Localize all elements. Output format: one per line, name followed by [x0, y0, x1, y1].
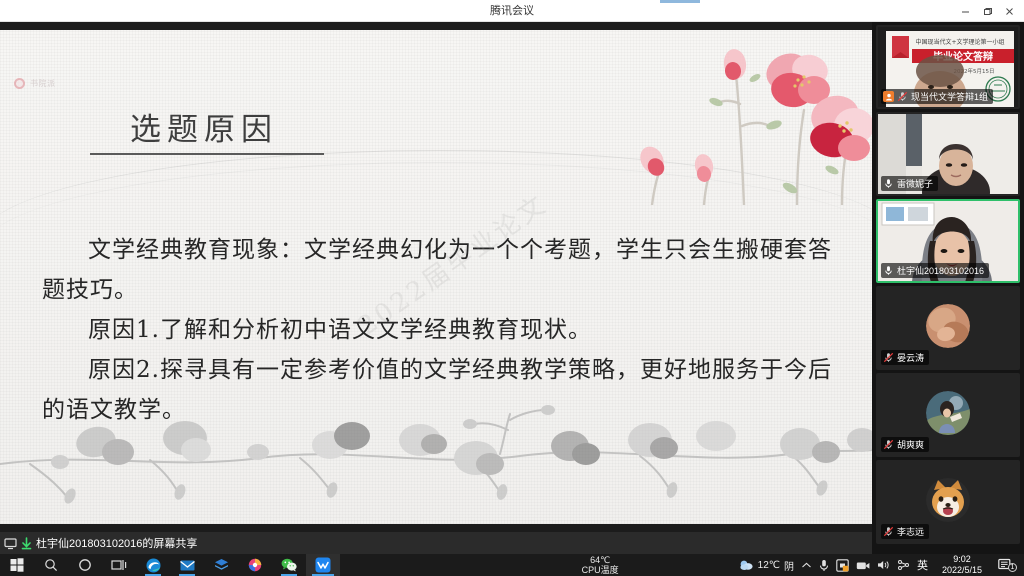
- slide-watermark-label: 书院派: [30, 78, 56, 89]
- cpu-temp-value: 64℃: [582, 555, 619, 565]
- screen-share-status-bar: 杜宇仙201803102016的屏幕共享: [0, 532, 872, 554]
- slide-watermark-badge: 书院派: [14, 78, 56, 89]
- chevron-up-icon[interactable]: [801, 561, 812, 570]
- shared-screen-stage[interactable]: 书院派: [0, 22, 872, 532]
- minimize-icon[interactable]: [954, 0, 976, 22]
- search-icon[interactable]: [34, 554, 68, 576]
- slide-paragraph-2: 原因1.了解和分析初中语文文学经典教育现状。: [42, 310, 842, 350]
- seal-icon: [14, 78, 25, 89]
- avatar: [926, 304, 970, 348]
- edge-icon[interactable]: [136, 554, 170, 576]
- participant-name: 雷微妮子: [897, 177, 933, 190]
- participant-name-chip: 现当代文学答辩1组: [881, 89, 993, 104]
- books-icon[interactable]: [204, 554, 238, 576]
- system-tray: 12℃ 阴: [739, 554, 1024, 576]
- participant-name-chip: 李志远: [881, 524, 929, 539]
- clock-time: 9:02: [935, 554, 989, 565]
- capture-icon[interactable]: [836, 559, 849, 572]
- wechat-icon[interactable]: [272, 554, 306, 576]
- ime-indicator[interactable]: 英: [917, 557, 928, 573]
- host-badge-icon: [883, 91, 894, 102]
- screen-share-label: 杜宇仙201803102016的屏幕共享: [36, 535, 197, 551]
- meeting-body: 书院派: [0, 22, 1024, 554]
- weather-condition: 阴: [784, 558, 794, 573]
- participant-tile-2[interactable]: 雷微妮子: [876, 112, 1020, 196]
- clock[interactable]: 9:02 2022/5/15: [935, 554, 989, 576]
- cpu-temp-label: CPU温度: [582, 565, 619, 575]
- window-title-bar: 腾讯会议: [0, 0, 1024, 22]
- participant-tile-4[interactable]: 晏云涛: [876, 286, 1020, 370]
- cloud-icon: [739, 559, 754, 571]
- participant-name: 晏云涛: [897, 351, 924, 364]
- slide-title-underline: [90, 153, 324, 155]
- microphone-muted-icon: [897, 91, 908, 102]
- participant-name: 李志远: [897, 525, 924, 538]
- camera-icon[interactable]: [856, 560, 870, 571]
- presentation-slide: 书院派: [0, 30, 872, 524]
- paint-icon[interactable]: [238, 554, 272, 576]
- participant-name-chip: 杜宇仙201803102016: [881, 263, 989, 278]
- floral-border-decoration: [0, 400, 872, 510]
- download-arrow-icon: [21, 537, 32, 550]
- notification-icon[interactable]: 1: [996, 558, 1018, 572]
- avatar: [926, 478, 970, 522]
- participant-tile-active-speaker[interactable]: 杜宇仙201803102016: [876, 199, 1020, 283]
- windows-taskbar: 64℃ CPU温度 12℃ 阴: [0, 554, 1024, 576]
- microphone-muted-icon: [883, 352, 894, 363]
- clock-date: 2022/5/15: [935, 565, 989, 576]
- microphone-muted-icon: [883, 526, 894, 537]
- participant-name-chip: 胡爽爽: [881, 437, 929, 452]
- weather-temp: 12℃: [758, 560, 780, 571]
- participant-rail[interactable]: 中国现当代文+文学理论第一小组 毕业论文答辩 2022年5月15日: [872, 22, 1024, 554]
- window-controls: [954, 0, 1020, 22]
- notification-count: 1: [1008, 563, 1017, 572]
- bluetooth-icon[interactable]: [897, 559, 910, 571]
- cpu-temperature-widget[interactable]: 64℃ CPU温度: [582, 555, 619, 575]
- svg-text:中国现当代文+文学理论第一小组: 中国现当代文+文学理论第一小组: [915, 38, 1004, 46]
- microphone-icon: [883, 178, 894, 189]
- close-icon[interactable]: [998, 0, 1020, 22]
- slide-paragraph-1: 文学经典教育现象：文学经典幻化为一个个考题，学生只会生搬硬套答题技巧。: [42, 230, 842, 310]
- monitor-icon: [4, 537, 17, 550]
- participant-name: 杜宇仙201803102016: [897, 264, 984, 277]
- mail-icon[interactable]: [170, 554, 204, 576]
- slide-title: 选题原因: [130, 104, 278, 149]
- speaker-icon[interactable]: [877, 559, 890, 571]
- taskbar-apps: [0, 554, 340, 576]
- participant-name-chip: 晏云涛: [881, 350, 929, 365]
- participant-name-chip: 雷微妮子: [881, 176, 938, 191]
- window-title: 腾讯会议: [0, 0, 1024, 22]
- start-button[interactable]: [0, 554, 34, 576]
- participant-name: 现当代文学答辩1组: [911, 90, 988, 103]
- tencent-meeting-icon[interactable]: [306, 554, 340, 576]
- task-view-icon[interactable]: [102, 554, 136, 576]
- participant-tile-host[interactable]: 中国现当代文+文学理论第一小组 毕业论文答辩 2022年5月15日: [876, 25, 1020, 109]
- participant-tile-6[interactable]: 李志远: [876, 460, 1020, 544]
- plum-blossom-decoration: [592, 30, 872, 205]
- circle-icon[interactable]: [68, 554, 102, 576]
- weather-widget[interactable]: 12℃ 阴: [739, 558, 794, 573]
- participant-name: 胡爽爽: [897, 438, 924, 451]
- participant-tile-5[interactable]: 胡爽爽: [876, 373, 1020, 457]
- restore-icon[interactable]: [976, 0, 998, 22]
- microphone-muted-icon: [883, 439, 894, 450]
- microphone-icon[interactable]: [819, 559, 829, 572]
- avatar: [926, 391, 970, 435]
- microphone-icon: [883, 265, 894, 276]
- tencent-meeting-window: 腾讯会议: [0, 0, 1024, 576]
